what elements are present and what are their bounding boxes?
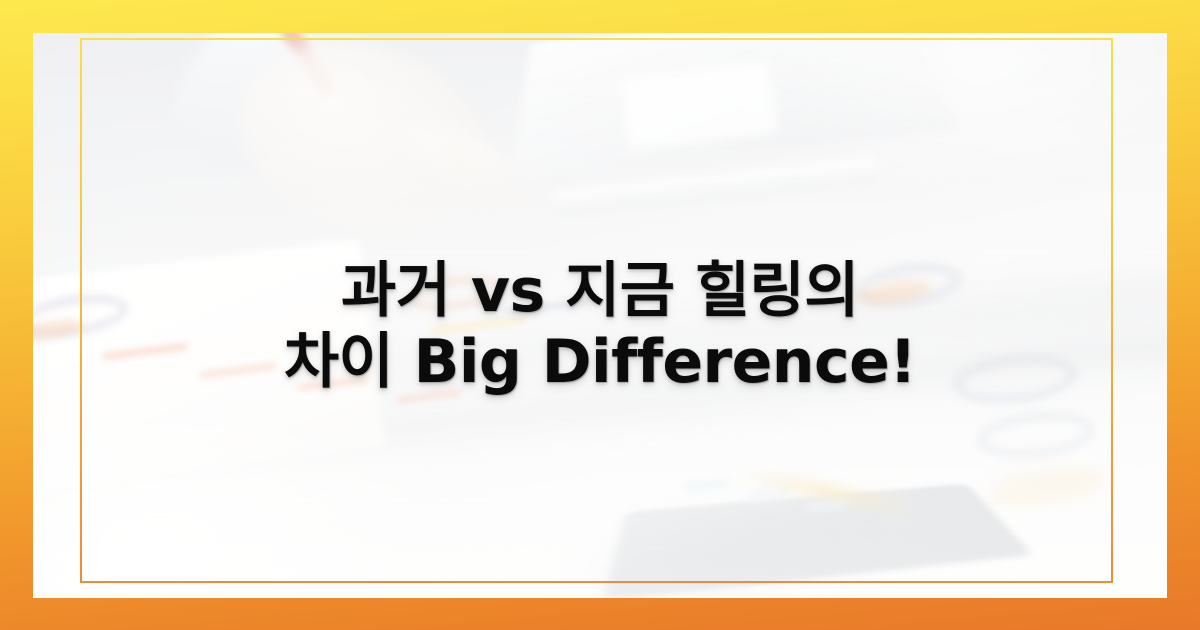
inner-panel: 과거 vs 지금 힐링의 차이 Big Difference! bbox=[33, 33, 1167, 598]
page-title: 과거 vs 지금 힐링의 차이 Big Difference! bbox=[280, 256, 920, 398]
title-block: 과거 vs 지금 힐링의 차이 Big Difference! bbox=[33, 33, 1167, 598]
banner-card: 과거 vs 지금 힐링의 차이 Big Difference! bbox=[0, 0, 1200, 630]
